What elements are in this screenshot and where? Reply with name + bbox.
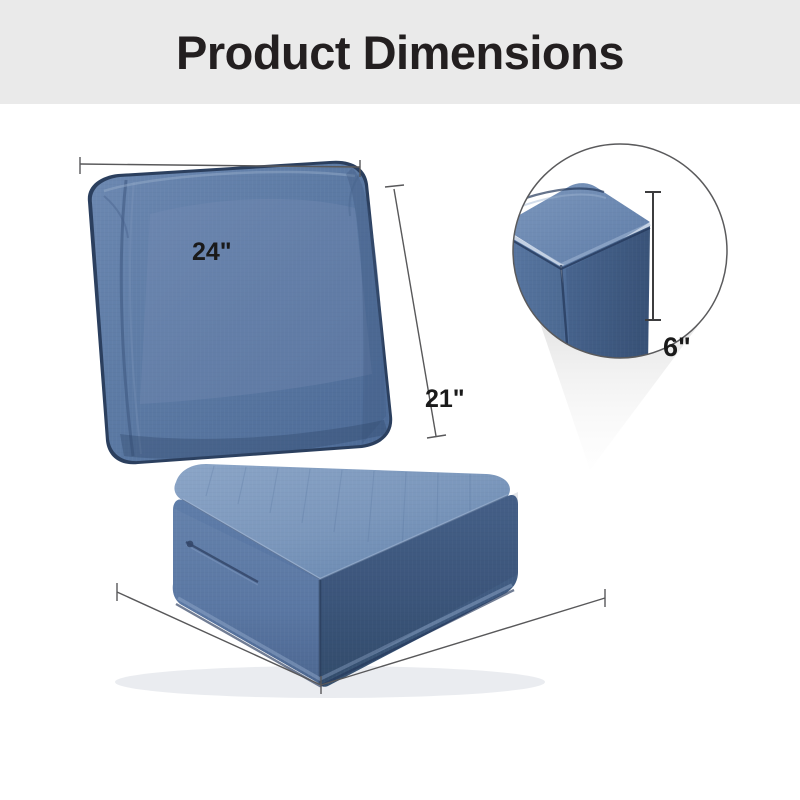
dimension-label-top-width: 24" <box>192 238 232 267</box>
product-illustration: 24" 21" 24" 24" 6" <box>0 104 800 704</box>
page-title: Product Dimensions <box>0 0 800 104</box>
dimension-label-height: 21" <box>425 385 465 414</box>
product-dimensions-infographic: Product Dimensions <box>0 0 800 800</box>
footer-note: Measure the seat width and depth, and en… <box>0 704 800 800</box>
illustration-canvas <box>0 104 800 704</box>
seat-cushion <box>115 464 545 698</box>
back-cushion <box>88 161 392 465</box>
dimension-label-thickness: 6" <box>663 332 691 363</box>
